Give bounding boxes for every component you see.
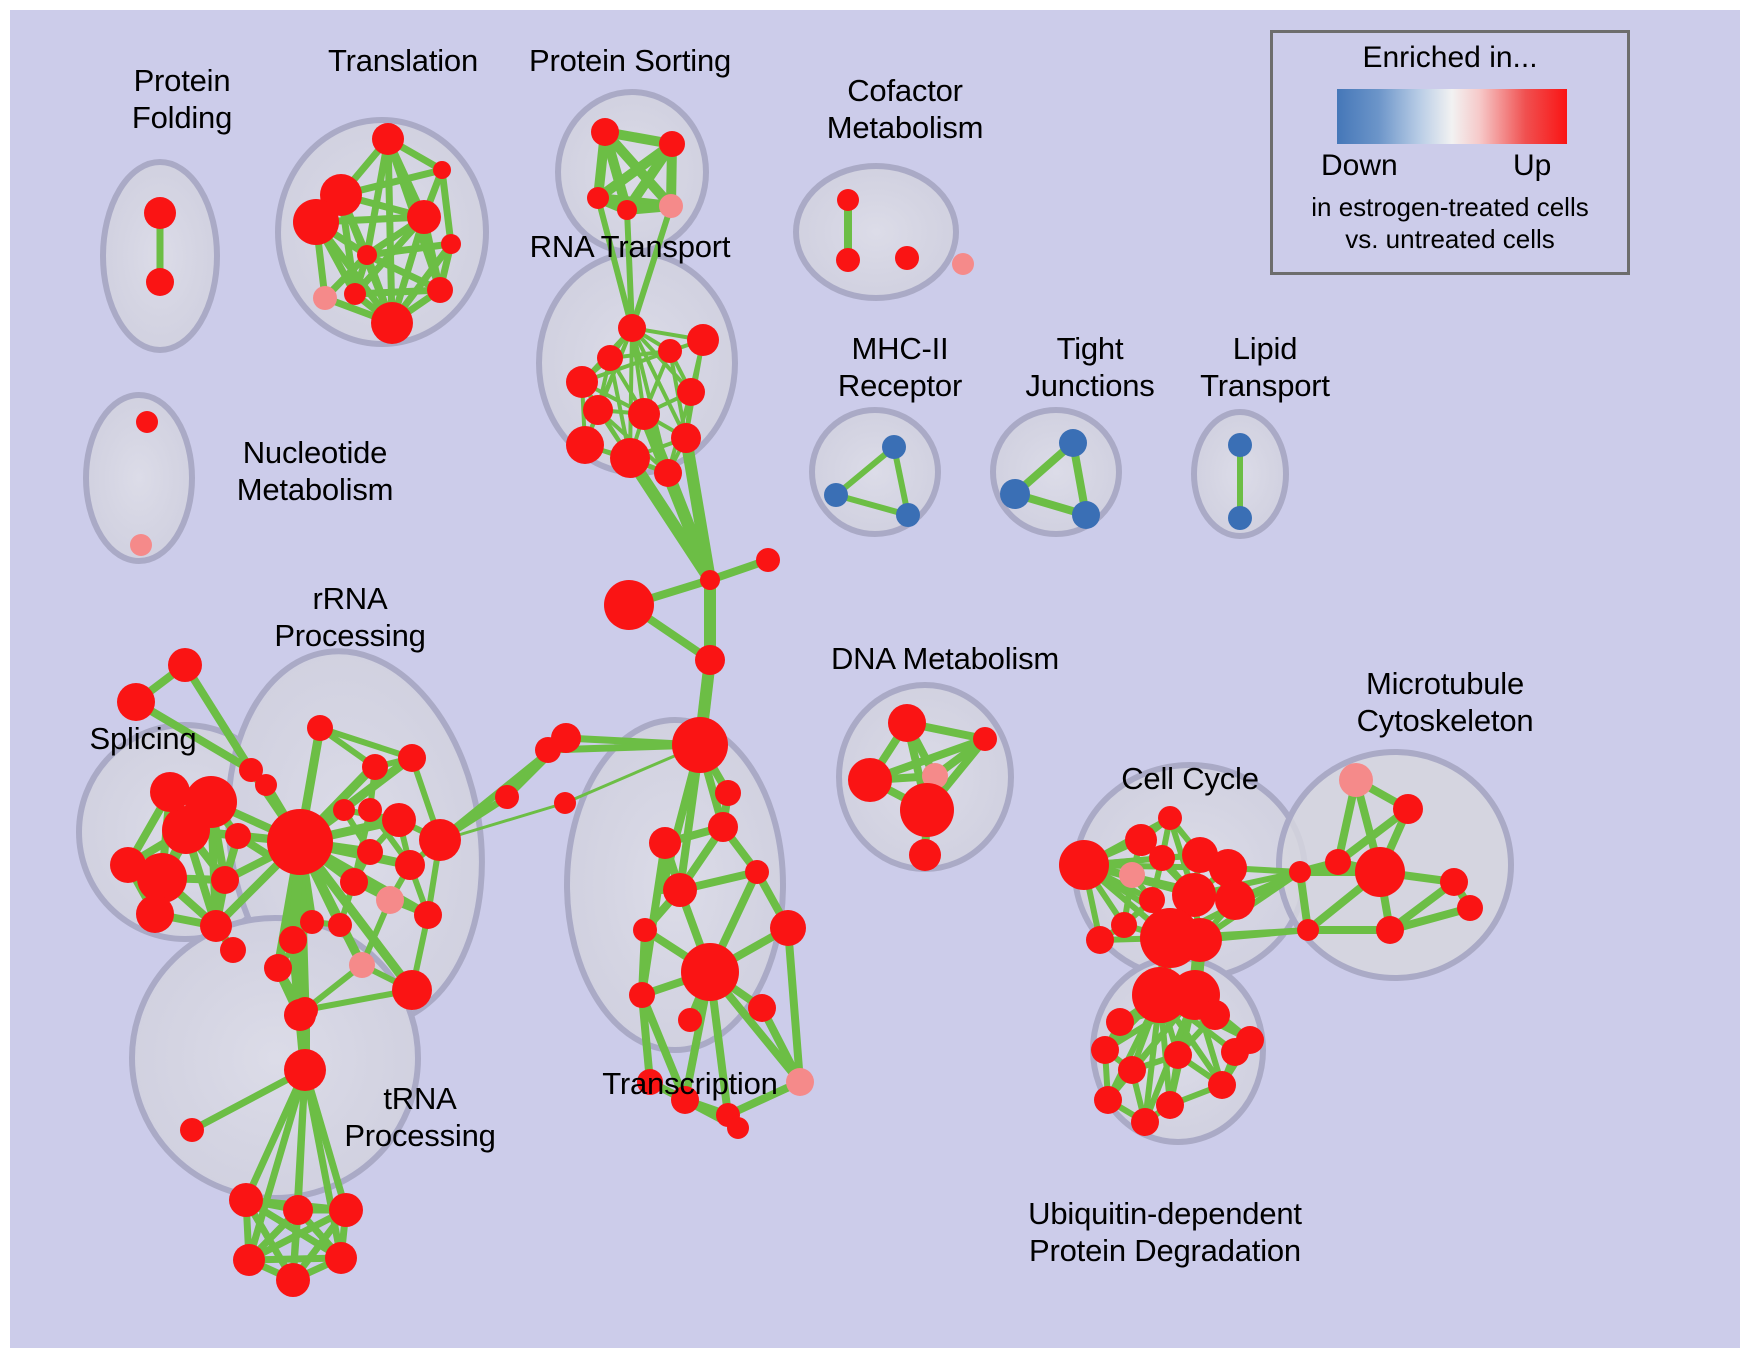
cluster-label-cofactor-metabolism: Cofactor Metabolism [790,72,1020,146]
legend-color-gradient [1337,89,1567,144]
cluster-label-cell-cycle: Cell Cycle [1090,760,1290,797]
cluster-label-protein-folding: Protein Folding [82,62,282,136]
legend-box: Enriched in... Down Up in estrogen-treat… [1270,30,1630,275]
cluster-label-trna-processing: tRNA Processing [310,1080,530,1154]
cluster-label-splicing: Splicing [58,720,228,757]
cluster-label-rna-transport: RNA Transport [505,228,755,265]
halo-cofactor-metabolism [796,166,956,298]
halo-tight-junctions [993,410,1119,534]
cluster-label-rrna-processing: rRNA Processing [250,580,450,654]
cluster-label-lipid-transport: Lipid Transport [1165,330,1365,404]
cluster-label-protein-sorting: Protein Sorting [500,42,760,79]
cluster-label-dna-metabolism: DNA Metabolism [810,640,1080,677]
legend-sublabel: in estrogen-treated cells vs. untreated … [1273,191,1627,255]
cluster-label-mhc-ii-receptor: MHC-II Receptor [800,330,1000,404]
legend-up-label: Up [1513,149,1551,183]
cluster-label-nucleotide-metabolism: Nucleotide Metabolism [200,434,430,508]
cluster-label-microtubule-cytoskeleton: Microtubule Cytoskeleton [1300,665,1590,739]
cluster-label-transcription: Transcription [570,1065,810,1102]
figure-canvas: Protein Folding Translation Protein Sort… [0,0,1750,1360]
cluster-label-ubiquitin-degradation: Ubiquitin-dependent Protein Degradation [980,1195,1350,1269]
network-plot-area: Protein Folding Translation Protein Sort… [10,10,1740,1348]
cluster-label-translation: Translation [288,42,518,79]
cluster-label-tight-junctions: Tight Junctions [990,330,1190,404]
legend-title: Enriched in... [1273,41,1627,75]
legend-down-label: Down [1321,149,1398,183]
